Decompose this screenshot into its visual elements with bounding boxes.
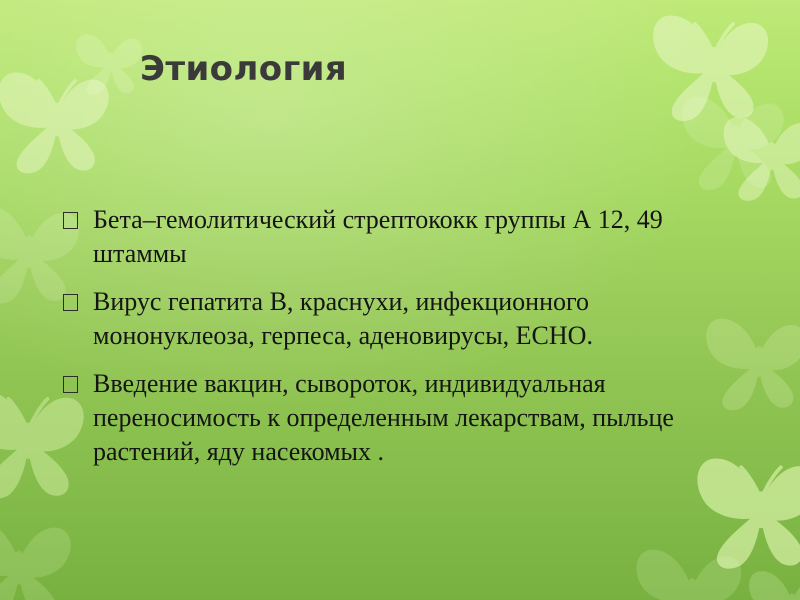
slide-body-content: Бета–гемолитический стрептококк группы А… — [63, 203, 753, 469]
butterfly-icon — [0, 500, 84, 600]
list-item: Бета–гемолитический стрептококк группы А… — [63, 203, 753, 271]
presentation-slide: Этиология Бета–гемолитический стрептокок… — [0, 0, 800, 600]
butterfly-icon — [718, 100, 800, 208]
butterfly-icon — [646, 0, 782, 130]
hollow-box-bullet-icon — [63, 376, 78, 393]
list-item-text: Бета–гемолитический стрептококк группы А… — [93, 203, 753, 271]
list-item-text: Введение вакцин, сывороток, индивидуальн… — [93, 367, 753, 469]
list-item: Вирус гепатита В, краснухи, инфекционног… — [63, 285, 753, 353]
list-item-text: Вирус гепатита В, краснухи, инфекционног… — [93, 285, 753, 353]
butterfly-icon — [72, 22, 150, 100]
butterfly-icon — [744, 556, 800, 600]
hollow-box-bullet-icon — [63, 294, 78, 311]
slide-title: Этиология — [140, 47, 347, 91]
butterfly-icon — [630, 530, 754, 600]
butterfly-icon — [676, 78, 796, 198]
butterfly-icon — [0, 52, 122, 182]
hollow-box-bullet-icon — [63, 212, 78, 229]
list-item: Введение вакцин, сывороток, индивидуальн… — [63, 367, 753, 469]
